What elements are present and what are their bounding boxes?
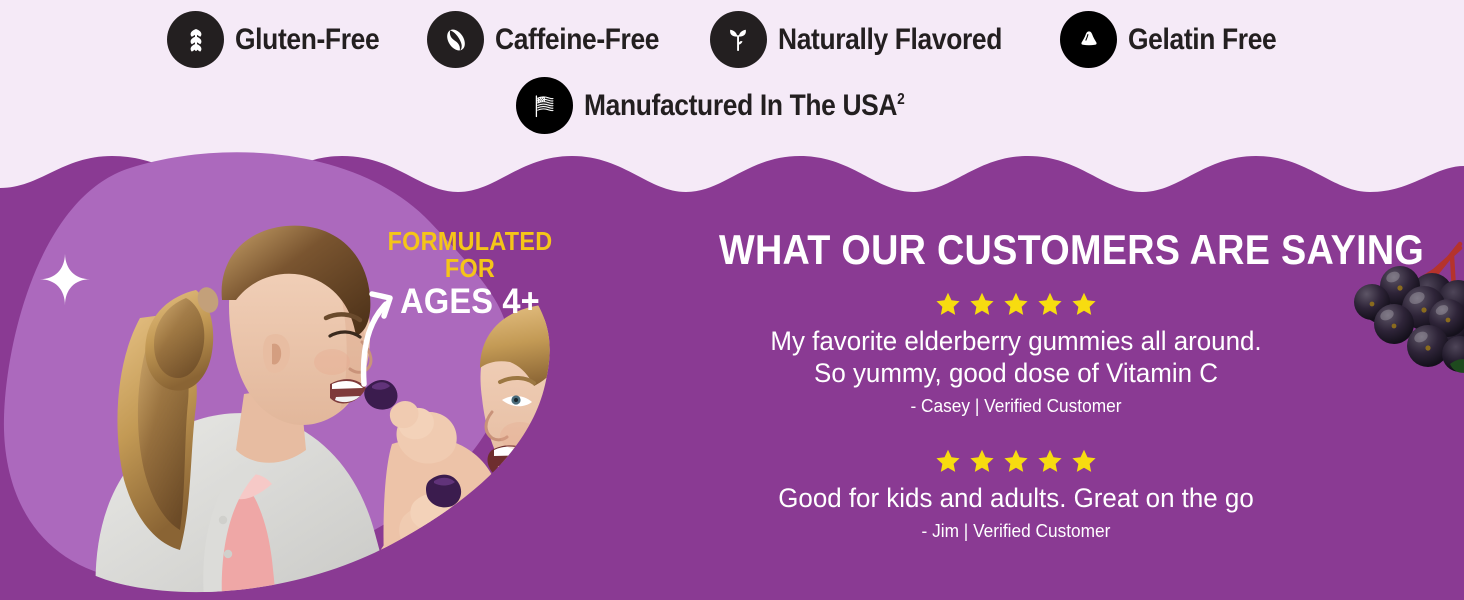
star-rating: [686, 447, 1346, 477]
lifestyle-photo: [0, 150, 680, 600]
certification-badge-strip: Gluten-Free Caffeine-Free: [0, 0, 1464, 150]
star-rating: [686, 290, 1346, 320]
coffee-bean-icon: [427, 11, 484, 68]
product-banner: Gluten-Free Caffeine-Free: [0, 0, 1464, 600]
badge-label-usa-superscript: 2: [897, 91, 904, 108]
callout-line-ages: AGES 4+: [360, 283, 579, 321]
star-icon: [1036, 448, 1064, 475]
badge-caffeine-free: Caffeine-Free: [427, 11, 682, 68]
review-item: Good for kids and adults. Great on the g…: [686, 447, 1346, 543]
page-title: WHAT OUR CUSTOMERS ARE SAYING: [719, 228, 1313, 273]
review-text: Good for kids and adults. Great on the g…: [699, 482, 1333, 515]
review-attribution: - Jim | Verified Customer: [699, 520, 1333, 543]
gumdrop-icon: [1060, 11, 1117, 68]
star-icon: [968, 291, 996, 318]
badge-label-usa-text: Manufactured In The USA: [584, 89, 897, 122]
usa-flag-icon: [516, 77, 573, 134]
badge-label-manufactured-usa: Manufactured In The USA2: [584, 89, 904, 123]
badge-manufactured-usa: Manufactured In The USA2: [516, 77, 948, 134]
star-icon: [934, 291, 962, 318]
callout-line-formulated-for: FORMULATED FOR: [364, 228, 576, 282]
star-icon: [1070, 291, 1098, 318]
testimonials-section: WHAT OUR CUSTOMERS ARE SAYING My favorit…: [686, 228, 1346, 543]
age-callout: FORMULATED FOR AGES 4+: [352, 228, 588, 321]
badge-gluten-free: Gluten-Free: [167, 11, 399, 68]
badge-label-naturally-flavored: Naturally Flavored: [778, 23, 1002, 57]
star-icon: [1002, 291, 1030, 318]
badge-label-gluten-free: Gluten-Free: [235, 23, 379, 57]
badge-row-primary: Gluten-Free Caffeine-Free: [0, 0, 1464, 68]
star-icon: [968, 448, 996, 475]
badge-label-caffeine-free: Caffeine-Free: [495, 23, 659, 57]
review-item: My favorite elderberry gummies all aroun…: [686, 290, 1346, 419]
badge-row-secondary: Manufactured In The USA2: [0, 68, 1464, 134]
sprout-icon: [710, 11, 767, 68]
badge-naturally-flavored: Naturally Flavored: [710, 11, 1033, 68]
star-icon: [1036, 291, 1064, 318]
review-attribution: - Casey | Verified Customer: [699, 395, 1333, 418]
badge-label-gelatin-free: Gelatin Free: [1128, 23, 1276, 57]
star-icon: [1002, 448, 1030, 475]
review-text: My favorite elderberry gummies all aroun…: [699, 325, 1333, 391]
wheat-icon: [167, 11, 224, 68]
star-icon: [1070, 448, 1098, 475]
badge-gelatin-free: Gelatin Free: [1060, 11, 1297, 68]
star-icon: [934, 448, 962, 475]
photo-composition: [0, 150, 680, 600]
